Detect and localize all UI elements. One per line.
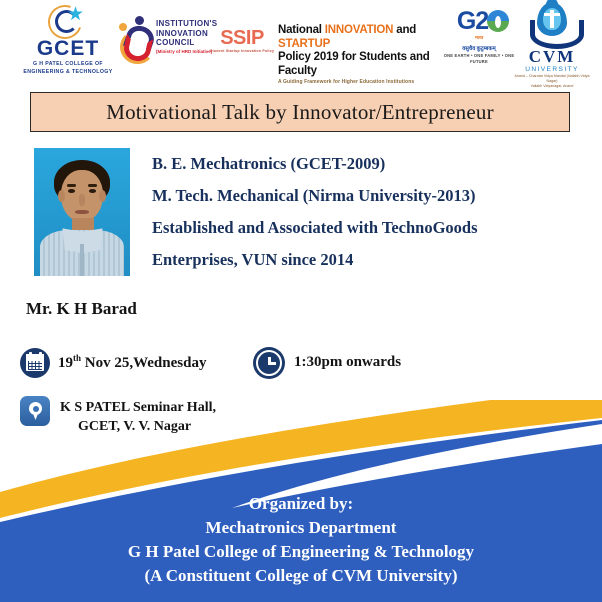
event-time: 1:30pm onwards (294, 354, 401, 371)
star-icon: ★ (67, 5, 84, 24)
speaker-ear-left (58, 190, 65, 202)
ssip-logo-subtitle: Student Startup Innovation Policy (205, 48, 279, 54)
event-date-ordinal: th (73, 353, 81, 363)
nisp-line-3: A Guiding Framework for Higher Education… (278, 78, 433, 86)
event-date-rest: Nov 25,Wednesday (81, 355, 206, 371)
cvm-tagline-2: Vallabh Vidyanagar, Anand (512, 84, 592, 89)
footer-line-4: (A Constituent College of CVM University… (0, 564, 602, 588)
footer-line-3: G H Patel College of Engineering & Techn… (0, 540, 602, 564)
g20-emblem-icon: G20 (443, 8, 515, 35)
qualification-line: B. E. Mechatronics (GCET-2009) (152, 148, 582, 180)
iic-sun-icon (119, 23, 127, 31)
speaker-brow-right (88, 184, 97, 187)
sponsor-logo-strip: ★ GCET G H PATEL COLLEGE OF ENGINEERING … (0, 0, 602, 86)
nisp-national-word: National (278, 24, 325, 36)
g20-bharat-text: भारत (443, 35, 515, 41)
gcet-logo-subtitle-2: ENGINEERING & TECHNOLOGY (14, 69, 122, 76)
speaker-ear-right (99, 190, 106, 202)
nisp-line-1: National INNOVATION and STARTUP (278, 24, 433, 51)
footer-line-2: Mechatronics Department (0, 516, 602, 540)
clock-icon (253, 347, 285, 379)
cvm-tagline-1: Anand – Charutar Vidya Mandal (Vallabh V… (512, 74, 592, 84)
g20-tagline: ONE EARTH • ONE FAMILY • ONE FUTURE (443, 53, 515, 65)
iic-figure-icon (118, 16, 152, 56)
calendar-grid (28, 361, 42, 370)
cvm-bowl-icon (530, 20, 584, 49)
qualification-line: Enterprises, VUN since 2014 (152, 244, 582, 276)
event-poster: ★ GCET G H PATEL COLLEGE OF ENGINEERING … (0, 0, 602, 602)
gcet-logo-subtitle-1: G H PATEL COLLEGE OF (14, 61, 122, 68)
gcet-logo: ★ GCET G H PATEL COLLEGE OF ENGINEERING … (14, 4, 122, 76)
g20-hindi-text: वसुधैव कुटुम्बकम् (443, 45, 515, 53)
speaker-shirt-placket (80, 244, 84, 276)
speaker-mouth (75, 210, 89, 214)
cvm-logo-title: CVM (512, 48, 592, 65)
speaker-nose (79, 194, 85, 206)
gcet-logo-title: GCET (14, 38, 122, 60)
speaker-qualifications: B. E. Mechatronics (GCET-2009) M. Tech. … (152, 148, 582, 276)
cvm-torch-arm-icon (544, 13, 560, 16)
speaker-eye-left (68, 189, 75, 193)
speaker-name: Mr. K H Barad (26, 299, 137, 319)
calendar-icon (20, 348, 50, 378)
nisp-logo: National INNOVATION and STARTUP Policy 2… (278, 24, 433, 86)
ssip-logo-title: SSIP (205, 28, 279, 48)
qualification-line: M. Tech. Mechanical (Nirma University-20… (152, 180, 582, 212)
cvm-emblem-icon (512, 2, 592, 48)
g20-g2: G2 (457, 7, 488, 35)
event-date: 19th Nov 25,Wednesday (58, 353, 206, 372)
footer-organizer-block: Organized by: Mechatronics Department G … (0, 492, 602, 588)
qualification-line: Established and Associated with TechnoGo… (152, 212, 582, 244)
speaker-eye-right (89, 189, 96, 193)
g20-logo: G20 भारत वसुधैव कुटुम्बकम् ONE EARTH • O… (443, 8, 515, 65)
nisp-startup-word: STARTUP (278, 38, 330, 50)
speaker-photo (34, 148, 130, 276)
speaker-brow-left (67, 184, 76, 187)
lotus-petal-icon (495, 16, 501, 28)
nisp-line-2: Policy 2019 for Students and Faculty (278, 51, 433, 78)
cvm-logo-subtitle: UNIVERSITY (512, 65, 592, 74)
nisp-and-word: and (393, 24, 416, 36)
nisp-innovation-word: INNOVATION (325, 24, 394, 36)
iic-head-icon (135, 16, 144, 25)
gcet-emblem-icon: ★ (14, 4, 122, 38)
footer-line-1: Organized by: (0, 492, 602, 516)
cvm-university-logo: CVM UNIVERSITY Anand – Charutar Vidya Ma… (512, 2, 592, 89)
event-date-day: 19 (58, 355, 73, 371)
page-title: Motivational Talk by Innovator/Entrepren… (106, 100, 494, 125)
ssip-logo: SSIP Student Startup Innovation Policy (205, 28, 279, 54)
event-title-banner: Motivational Talk by Innovator/Entrepren… (30, 92, 570, 132)
lotus-icon (487, 10, 509, 32)
clock-minute-hand (268, 362, 276, 365)
